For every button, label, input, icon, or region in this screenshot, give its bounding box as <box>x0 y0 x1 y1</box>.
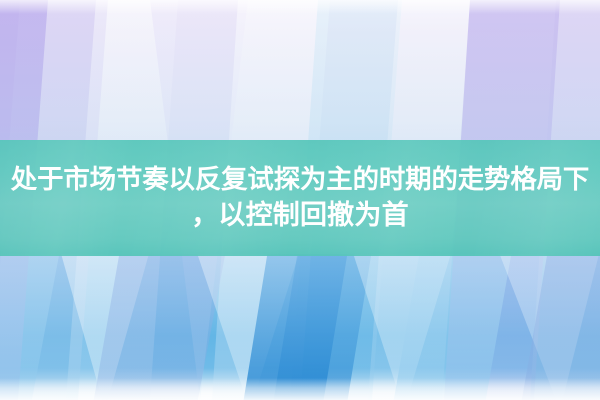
caption-block: 处于市场节奏以反复试探为主的时期的走势格局下 ，以控制回撤为首 <box>0 140 600 256</box>
caption-line-2: ，以控制回撤为首 <box>191 198 409 234</box>
decorative-banner: 处于市场节奏以反复试探为主的时期的走势格局下 ，以控制回撤为首 <box>0 0 600 400</box>
caption-line-1: 处于市场节奏以反复试探为主的时期的走势格局下 <box>11 162 589 198</box>
